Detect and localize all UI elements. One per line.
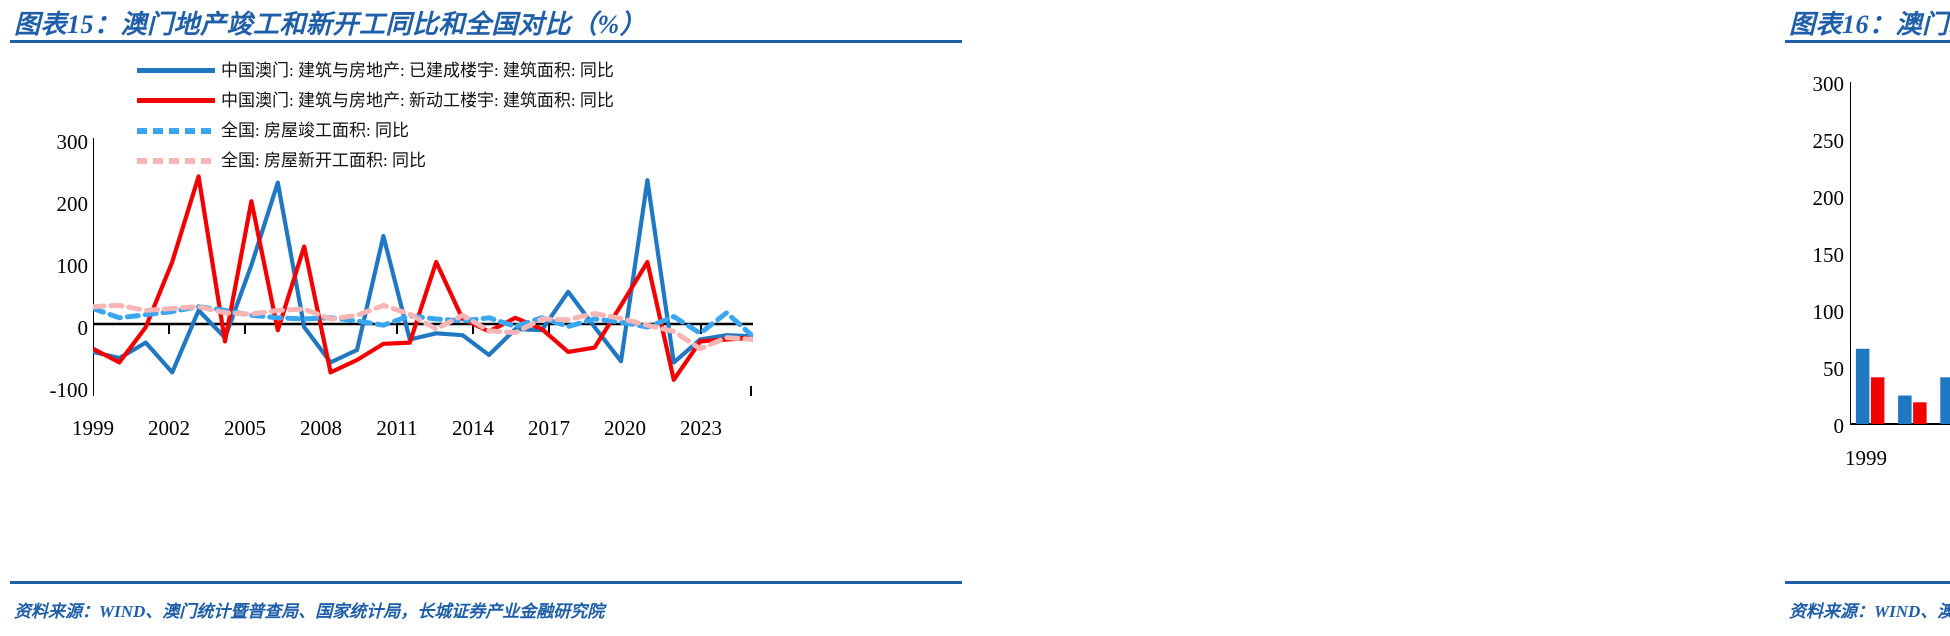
bar-s1-2000 — [1913, 402, 1927, 424]
y-tick-label-100: 100 — [1770, 300, 1844, 325]
legend-item-2: 全国: 房屋竣工面积: 同比 — [137, 122, 409, 139]
bar-s0-2000 — [1898, 396, 1912, 425]
bar-s1-1999 — [1871, 377, 1885, 424]
left-series-group — [93, 176, 753, 379]
legend-label-0: 中国澳门: 建筑与房地产: 已建成楼宇: 建筑面积: 同比 — [221, 62, 614, 79]
y-tick-label-250: 250 — [1770, 129, 1844, 154]
legend-swatch-dashed-blue-icon — [137, 128, 215, 134]
figure-16-footer-rule — [1785, 581, 1950, 584]
y-tick-label-300: 300 — [1770, 72, 1844, 97]
figure-15-title-rule — [10, 40, 962, 43]
y-tick-label-50: 50 — [1770, 357, 1844, 382]
right-bars-group — [1856, 131, 1950, 424]
y-tick-label-100: 100 — [14, 254, 88, 279]
figure-16-plot-area — [1850, 82, 1950, 442]
y-tick-label-300: 300 — [14, 130, 88, 155]
x-tick-label-1999: 1999 — [1830, 446, 1902, 471]
legend-label-2: 全国: 房屋竣工面积: 同比 — [221, 122, 409, 139]
y-tick-label-200: 200 — [1770, 186, 1844, 211]
figure-15-panel: 图表15：澳门地产竣工和新开工同比和全国对比（%） 中国澳门: 建筑与房地产: … — [0, 0, 975, 636]
figure-15-footer-rule — [10, 581, 962, 584]
figure-15-source: 资料来源：WIND、澳门统计暨普查局、国家统计局，长城证券产业金融研究院 — [14, 597, 604, 622]
figure-16-title: 图表16：澳门新开工和竣工楼宇面积（万平方米） — [1789, 4, 1950, 41]
figure-15-title: 图表15：澳门地产竣工和新开工同比和全国对比（%） — [14, 4, 646, 41]
bar-s0-1999 — [1856, 349, 1870, 424]
legend-item-0: 中国澳门: 建筑与房地产: 已建成楼宇: 建筑面积: 同比 — [137, 62, 614, 79]
legend-item-1: 中国澳门: 建筑与房地产: 新动工楼宇: 建筑面积: 同比 — [137, 92, 614, 109]
figure-16-source: 资料来源：WIND、澳门统计暨普查局、长城证券产业金融研究院 — [1789, 597, 1950, 622]
figure-15-plot-area — [93, 138, 753, 468]
legend-label-1: 中国澳门: 建筑与房地产: 新动工楼宇: 建筑面积: 同比 — [221, 92, 614, 109]
left-axis-group — [93, 138, 753, 396]
bar-s0-2001 — [1940, 377, 1950, 424]
figure-16-chart: 中国澳门: 建筑与房地产: 已建成楼宇: 建筑面积 中国澳门: 建筑与房地产: … — [975, 46, 1950, 551]
report-figures-page: 图表15：澳门地产竣工和新开工同比和全国对比（%） 中国澳门: 建筑与房地产: … — [0, 0, 1950, 636]
y-tick-label-neg100: -100 — [4, 378, 88, 403]
y-tick-label-200: 200 — [14, 192, 88, 217]
legend-swatch-solid-blue-icon — [137, 68, 215, 73]
legend-swatch-solid-red-icon — [137, 98, 215, 103]
figure-16-title-rule — [1785, 40, 1950, 43]
line-series-0 — [93, 180, 753, 372]
y-tick-label-0: 0 — [14, 316, 88, 341]
line-series-1 — [93, 176, 753, 379]
y-tick-label-0: 0 — [1770, 414, 1844, 439]
y-tick-label-150: 150 — [1770, 243, 1844, 268]
figure-16-panel: 图表16：澳门新开工和竣工楼宇面积（万平方米） 中国澳门: 建筑与房地产: 已建… — [975, 0, 1950, 636]
figure-15-chart: 中国澳门: 建筑与房地产: 已建成楼宇: 建筑面积: 同比 中国澳门: 建筑与房… — [0, 46, 975, 551]
